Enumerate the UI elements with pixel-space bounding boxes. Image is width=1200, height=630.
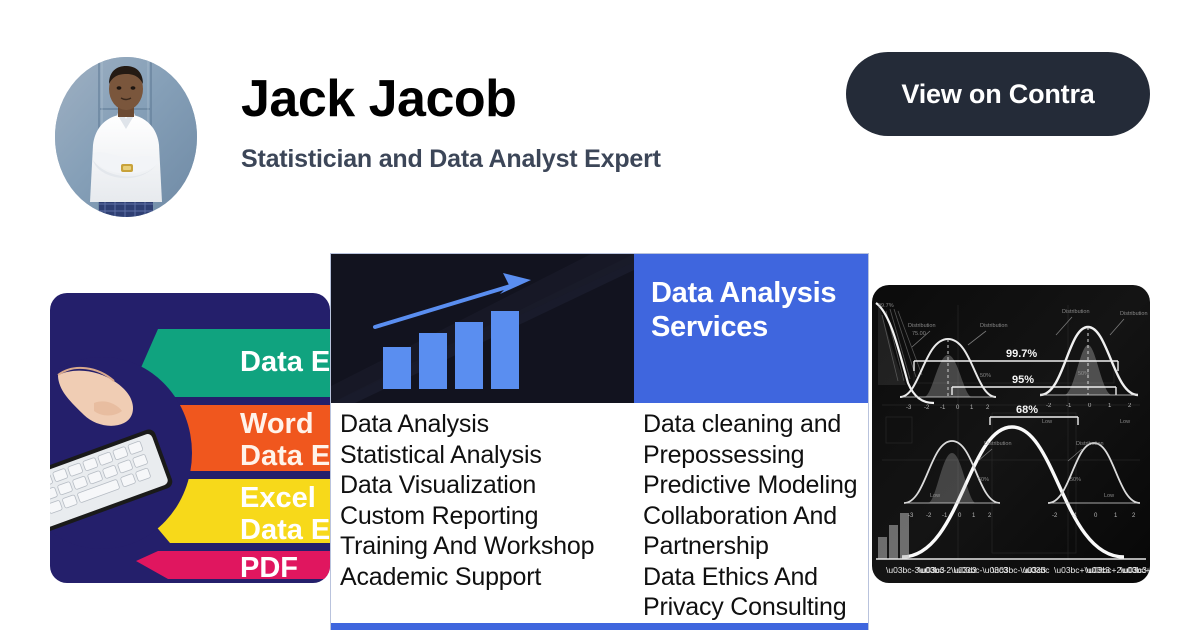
svg-text:50%: 50% [980, 373, 991, 379]
normal-distribution-blackboard-graphic: 99.7% 95% 68% DistributionDistribution D… [872, 285, 1150, 583]
svg-text:99.7%: 99.7% [1006, 348, 1037, 360]
card-banner-title-line-1: Data Analysis [651, 276, 868, 310]
svg-text:-2: -2 [1046, 403, 1052, 409]
card-body: Data Analysis Statistical Analysis Data … [331, 403, 868, 623]
svg-text:50%: 50% [1070, 477, 1081, 483]
svg-text:Distribution: Distribution [1076, 441, 1104, 447]
svg-text:Distribution: Distribution [1062, 309, 1090, 315]
card-top: Data Analysis Services [331, 254, 868, 403]
svg-text:Low: Low [1104, 493, 1114, 499]
svg-text:-3: -3 [906, 405, 912, 411]
svg-text:Low: Low [1042, 419, 1052, 425]
svg-text:Data E: Data E [240, 346, 330, 378]
svg-text:Distribution: Distribution [1120, 311, 1148, 317]
view-on-contra-button[interactable]: View on Contra [846, 52, 1150, 136]
svg-text:Low: Low [1120, 419, 1130, 425]
card-banner: Data Analysis Services [634, 254, 868, 403]
profile-header: Jack Jacob Statistician and Data Analyst… [0, 0, 1200, 240]
list-item: Statistical Analysis [340, 440, 634, 471]
card-banner-title-line-2: Services [651, 310, 868, 344]
profile-tagline: Statistician and Data Analyst Expert [241, 144, 661, 174]
card-footer-bar [331, 623, 868, 630]
bar-chart-growth-arrow-icon [331, 254, 634, 403]
page-title: Jack Jacob [241, 70, 661, 128]
svg-text:Low: Low [930, 493, 940, 499]
svg-text:50%: 50% [978, 477, 989, 483]
identity-block: Jack Jacob Statistician and Data Analyst… [241, 70, 661, 174]
service-card[interactable]: Data Analysis Services Data Analysis Sta… [330, 253, 869, 630]
svg-text:-3: -3 [908, 513, 914, 519]
svg-text:-2: -2 [926, 513, 932, 519]
svg-text:68%: 68% [1016, 404, 1038, 416]
svg-text:-1: -1 [940, 405, 946, 411]
profile-card-page: Jack Jacob Statistician and Data Analyst… [0, 0, 1200, 630]
list-item: Custom Reporting [340, 501, 634, 532]
list-item: Data cleaning and Prepossessing [643, 409, 868, 470]
svg-text:50%: 50% [1078, 371, 1089, 377]
services-list-right: Data cleaning and Prepossessing Predicti… [634, 409, 868, 623]
svg-text:-1: -1 [1072, 513, 1078, 519]
services-list-left: Data Analysis Statistical Analysis Data … [331, 409, 634, 623]
svg-text:Distribution: Distribution [980, 323, 1008, 329]
list-item: Collaboration And Partnership [643, 501, 868, 562]
svg-text:-1: -1 [942, 513, 948, 519]
avatar-photo [55, 57, 197, 217]
svg-text:-1: -1 [1066, 403, 1072, 409]
svg-text:75.00: 75.00 [912, 331, 926, 337]
portfolio-media-strip: Data E Word Data E Excel Data E PDF [0, 240, 1200, 630]
list-item: Data Visualization [340, 470, 634, 501]
svg-text:Excel: Excel [240, 482, 316, 514]
svg-text:\u03bc+3\u03c3: \u03bc+3\u03c3 [1120, 565, 1150, 575]
statistics-distribution-thumbnail[interactable]: 99.7% 95% 68% DistributionDistribution D… [872, 285, 1150, 583]
svg-text:\u03bc: \u03bc [1024, 565, 1050, 575]
card-visual [331, 254, 634, 403]
svg-text:99.7%: 99.7% [878, 303, 894, 309]
avatar [55, 57, 197, 217]
svg-text:-2: -2 [1052, 513, 1058, 519]
svg-text:95%: 95% [1012, 374, 1034, 386]
svg-text:Distribution: Distribution [984, 441, 1012, 447]
svg-text:Data E: Data E [240, 514, 330, 546]
list-item: Predictive Modeling [643, 470, 868, 501]
svg-text:-2: -2 [924, 405, 930, 411]
svg-text:Word: Word [240, 408, 314, 440]
list-item: Training And Workshop [340, 531, 634, 562]
list-item: Academic Support [340, 562, 634, 593]
list-item: Data Analysis [340, 409, 634, 440]
list-item: Data Ethics And Privacy Consulting [643, 562, 868, 623]
svg-text:Data E: Data E [240, 440, 330, 472]
data-entry-services-thumbnail[interactable]: Data E Word Data E Excel Data E PDF [50, 293, 330, 583]
svg-text:Distribution: Distribution [908, 323, 936, 329]
data-entry-keyboard-graphic: Data E Word Data E Excel Data E PDF [50, 293, 330, 583]
svg-text:PDF: PDF [240, 552, 298, 583]
